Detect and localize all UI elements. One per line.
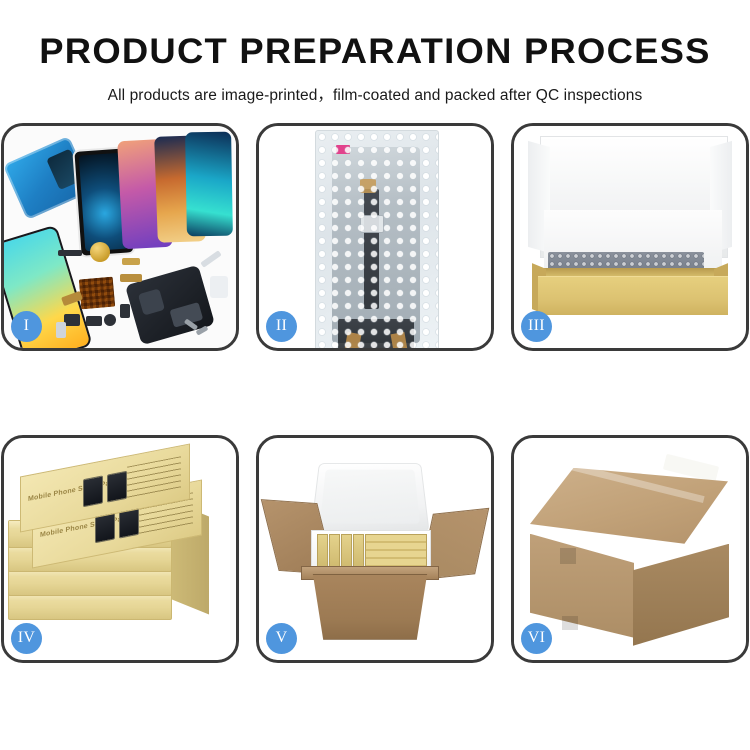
step-badge-2: II (266, 311, 297, 342)
printed-spec-lines (127, 456, 181, 500)
page-header: PRODUCT PREPARATION PROCESS All products… (0, 0, 750, 105)
printed-screen-graphic (83, 475, 103, 507)
page-title: PRODUCT PREPARATION PROCESS (0, 34, 750, 71)
spare-part (56, 322, 66, 338)
process-step-card-2: II (256, 123, 494, 351)
step-4-photo: Mobile Phone Spare Parts Mobile Phone Sp… (4, 438, 236, 660)
connector-chip-grid-icon (79, 276, 115, 309)
flex-cable (364, 189, 379, 309)
process-step-card-6: VI (511, 435, 749, 663)
step-badge-3: III (521, 311, 552, 342)
product-preparation-page: PRODUCT PREPARATION PROCESS All products… (0, 0, 750, 750)
gold-component-icon (90, 242, 110, 262)
box-brand-label: Mobile Phone Spare Parts (28, 478, 119, 503)
spare-part (200, 250, 221, 268)
step-badge-6: VI (521, 623, 552, 654)
spare-part (86, 316, 102, 326)
flex-connector-chip (360, 215, 384, 233)
carton-handle-tab (560, 548, 576, 564)
bubble-wrap-pack (315, 130, 439, 348)
process-step-card-3: III (511, 123, 749, 351)
carton-handle-tab (562, 616, 578, 630)
gold-contact (345, 332, 362, 348)
spare-part (210, 276, 228, 298)
step-5-photo (259, 438, 491, 660)
pink-qc-label (336, 145, 350, 154)
step-6-photo (514, 438, 746, 660)
step-2-photo (259, 126, 491, 348)
page-subtitle: All products are image-printed，film-coat… (0, 83, 750, 105)
carton-front-face (530, 534, 634, 638)
carton-side-face (633, 544, 729, 646)
spare-part (120, 304, 130, 318)
step-badge-4: IV (11, 623, 42, 654)
kraft-tray-front (538, 276, 728, 315)
step-1-photo (4, 126, 236, 348)
process-step-grid: I II (4, 123, 746, 663)
process-step-card-1: I (1, 123, 239, 351)
box-stack: Mobile Phone Spare Parts Mobile Phone Sp… (4, 444, 236, 660)
spare-part (104, 314, 116, 326)
step-badge-1: I (11, 311, 42, 342)
spare-part (120, 274, 142, 282)
process-step-card-5: V (256, 435, 494, 663)
gold-contact (360, 179, 376, 193)
carton-body (305, 574, 435, 640)
printed-screen-graphic (107, 470, 127, 502)
stacked-box (8, 592, 172, 620)
stacked-box (8, 568, 172, 596)
process-step-card-4: Mobile Phone Spare Parts Mobile Phone Sp… (1, 435, 239, 663)
spare-part (64, 314, 80, 326)
foam-lid (310, 463, 429, 532)
spare-part (58, 250, 82, 256)
step-3-photo (514, 126, 746, 348)
step-badge-5: V (266, 623, 297, 654)
spare-part (122, 258, 140, 265)
phone-screen-cyan (185, 131, 233, 236)
